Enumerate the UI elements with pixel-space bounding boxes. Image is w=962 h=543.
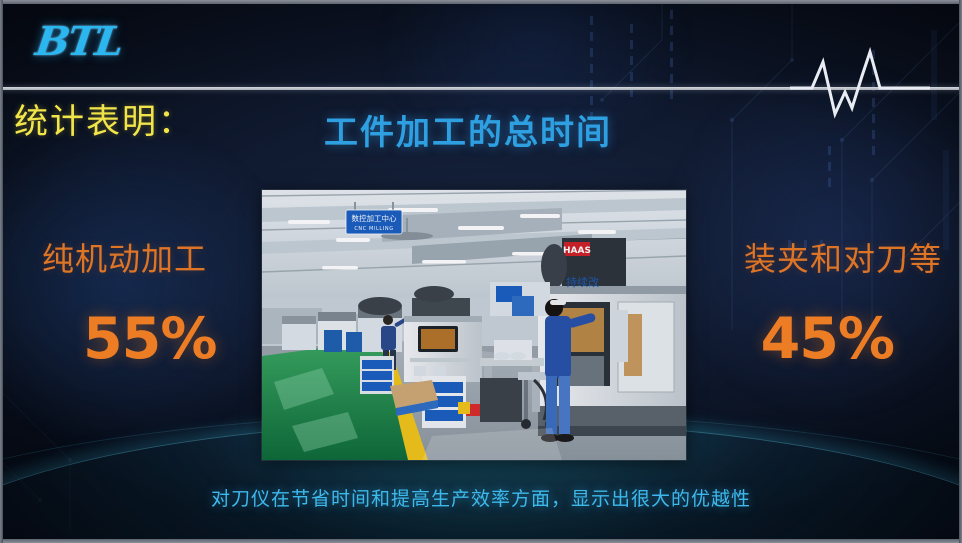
workshop-photo-illustration: 数控加工中心 CNC MILLING [262, 190, 686, 460]
page-title: 工件加工的总时间 [324, 105, 612, 154]
slide-caption: 对刀仪在节省时间和提高生产效率方面，显示出很大的优越性 [0, 484, 962, 511]
brand-logo: BTL [33, 18, 125, 65]
slide-frame-top [0, 0, 962, 4]
header-divider [0, 87, 962, 90]
breakdown-label-right: 装夹和对刀等 [744, 234, 942, 280]
breakdown-percent-left: 55% [83, 306, 216, 372]
breakdown-label-left: 纯机动加工 [42, 234, 207, 280]
presentation-slide: BTL 统计表明： 工件加工的总时间 纯机动加工 55% 装夹和对刀等 45% [0, 0, 962, 543]
breakdown-percent-right: 45% [761, 306, 894, 372]
slide-frame-left [0, 0, 3, 543]
statistics-heading: 统计表明： [14, 94, 194, 143]
workshop-photo: 数控加工中心 CNC MILLING [262, 190, 686, 460]
slide-frame-bottom [0, 539, 962, 543]
